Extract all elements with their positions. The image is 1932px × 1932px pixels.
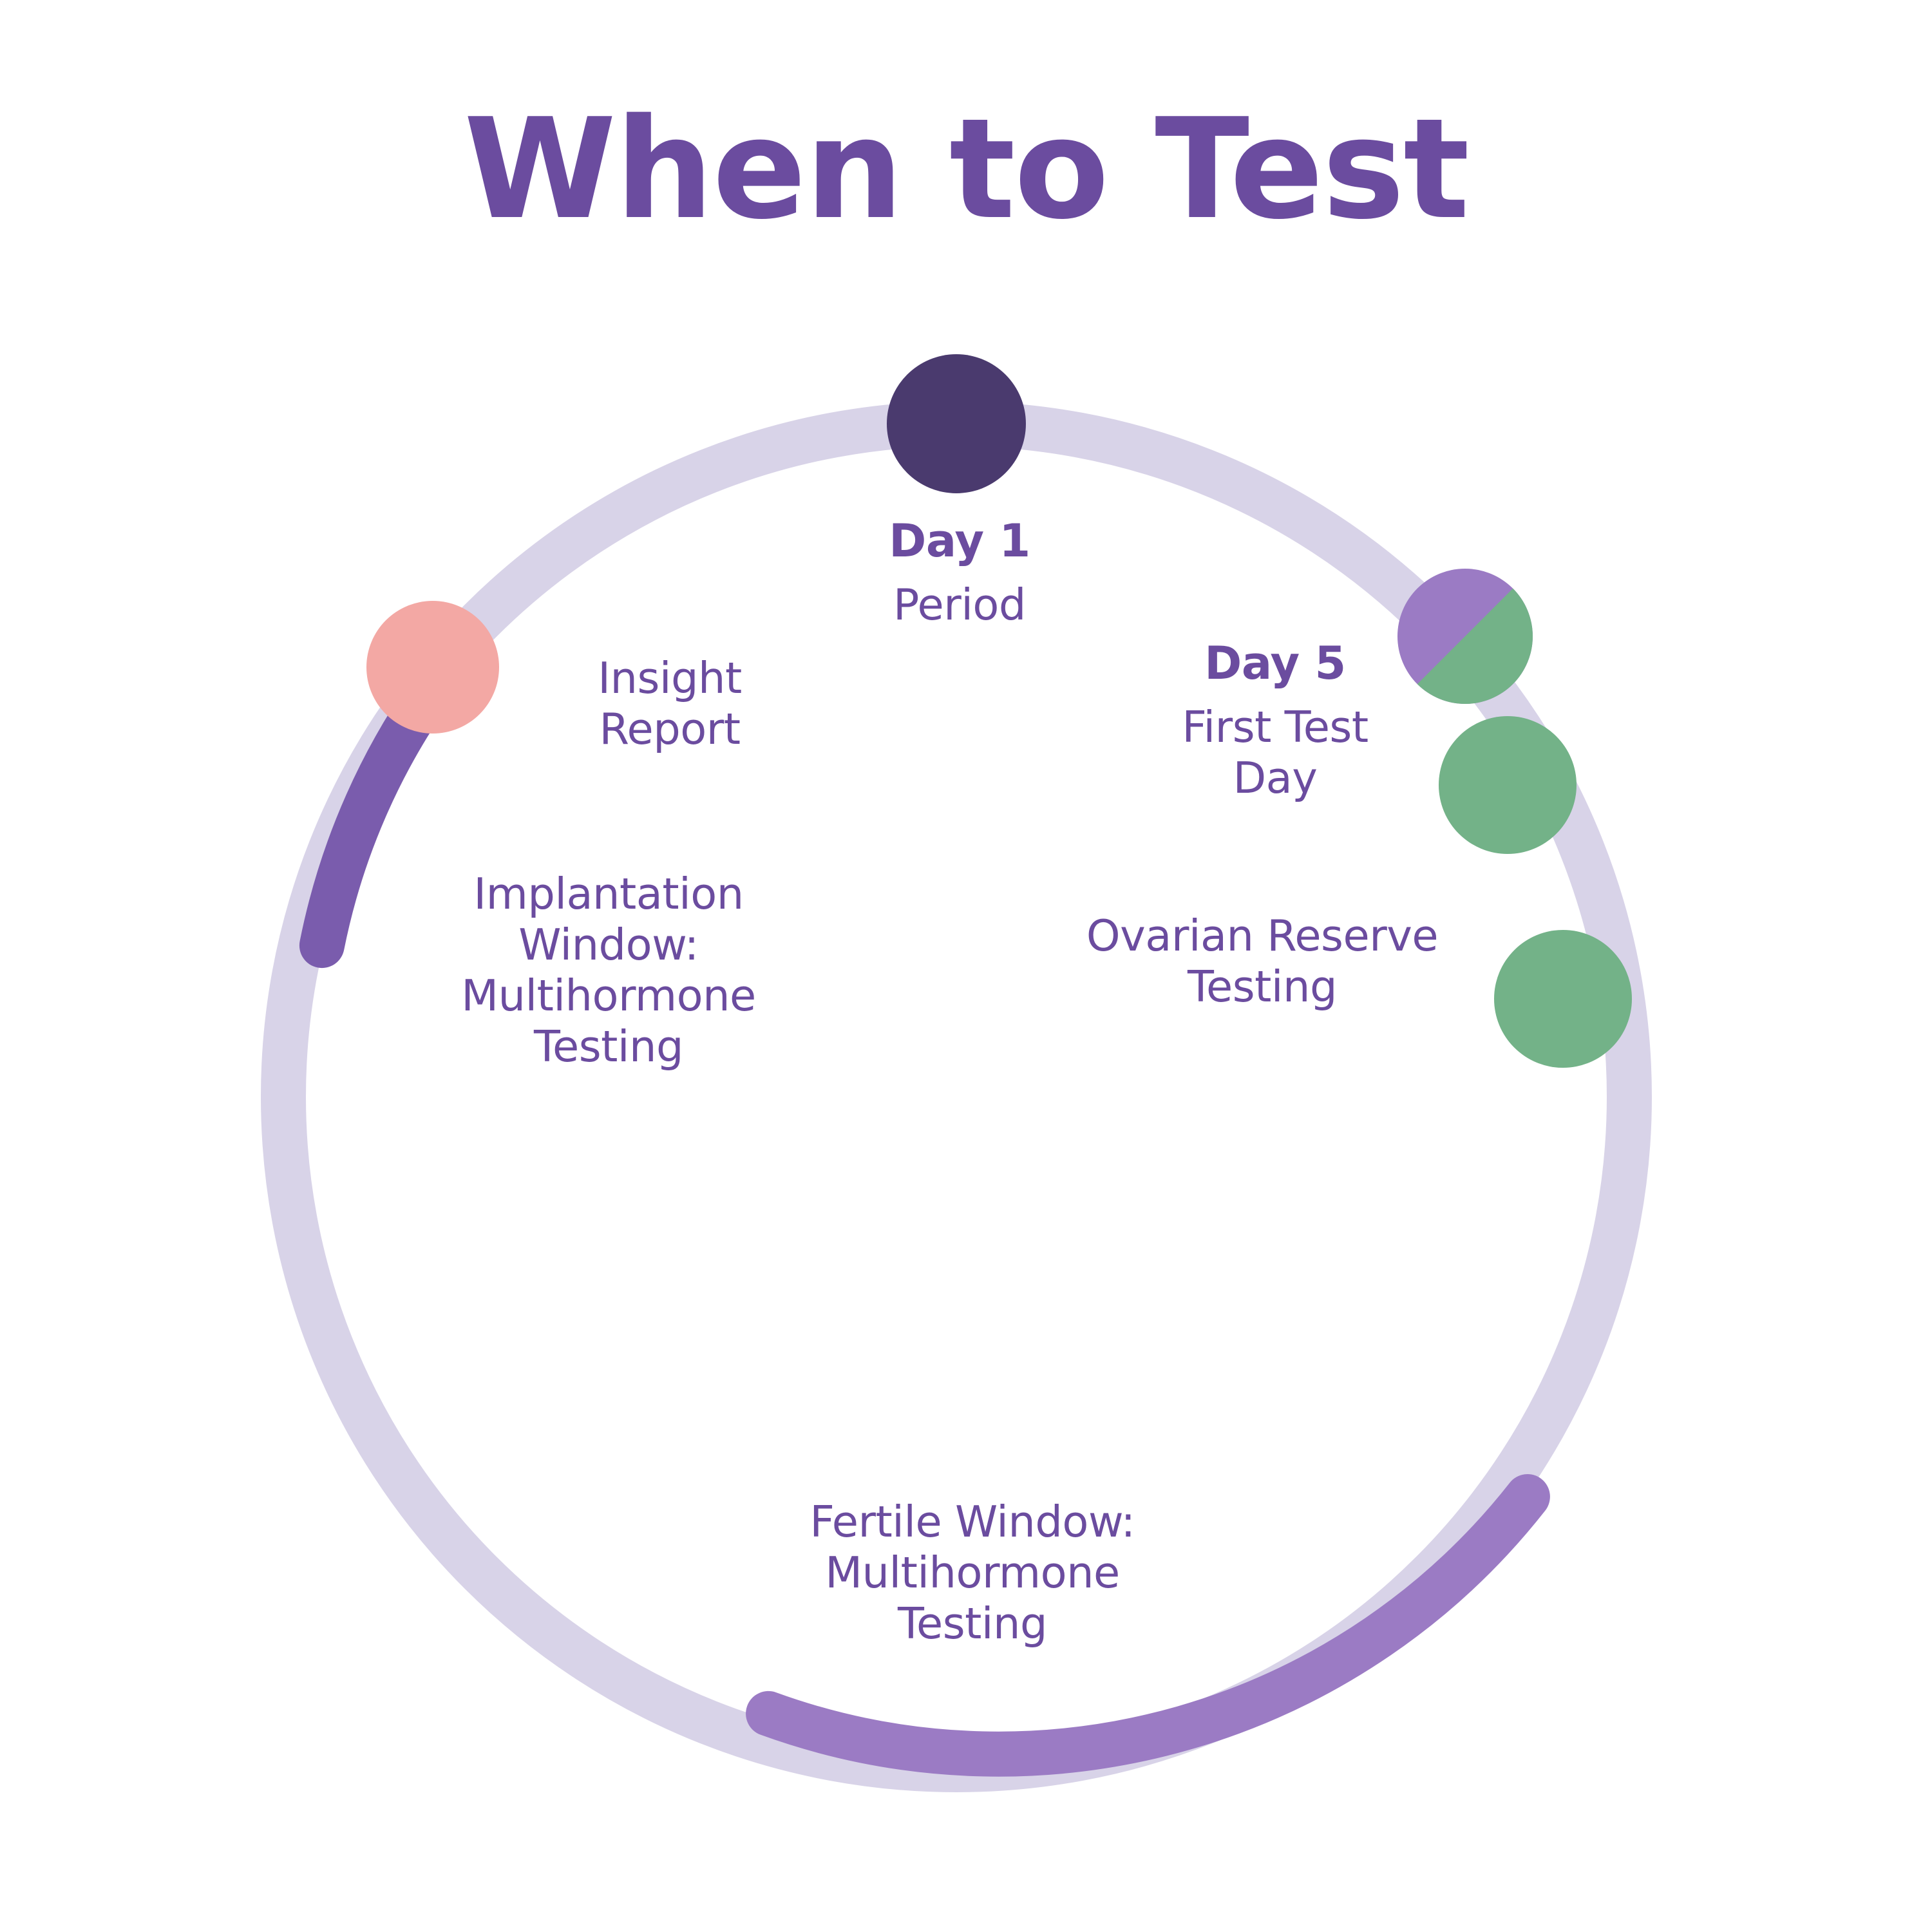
label-ovarian-reserve: Ovarian Reserve Testing	[985, 898, 1539, 1025]
label-implantation-window: Implantation Window: Multihormone Testin…	[367, 857, 850, 1084]
label-ovarian-reserve-body: Ovarian Reserve Testing	[985, 911, 1539, 1012]
label-implantation-window-body: Implantation Window: Multihormone Testin…	[367, 869, 850, 1072]
label-day-1-heading: Day 1	[760, 515, 1159, 568]
insight-report-marker-icon[interactable]	[366, 601, 499, 734]
label-fertile-window: Fertile Window: Multihormone Testing	[686, 1484, 1259, 1662]
infographic-canvas: When to Test Day 1 Period Day 5	[0, 0, 1932, 1932]
label-day-5-body: First Test Day	[1082, 702, 1468, 804]
label-day-5: Day 5 First Test Day	[1082, 625, 1468, 816]
label-insight-report: Insight Report	[522, 641, 818, 767]
day-1-marker-icon[interactable]	[887, 354, 1026, 493]
label-day-1-body: Period	[760, 580, 1159, 630]
label-day-5-heading: Day 5	[1082, 637, 1468, 690]
label-day-1: Day 1 Period	[760, 502, 1159, 643]
label-fertile-window-body: Fertile Window: Multihormone Testing	[686, 1497, 1259, 1649]
label-insight-report-body: Insight Report	[522, 653, 818, 755]
